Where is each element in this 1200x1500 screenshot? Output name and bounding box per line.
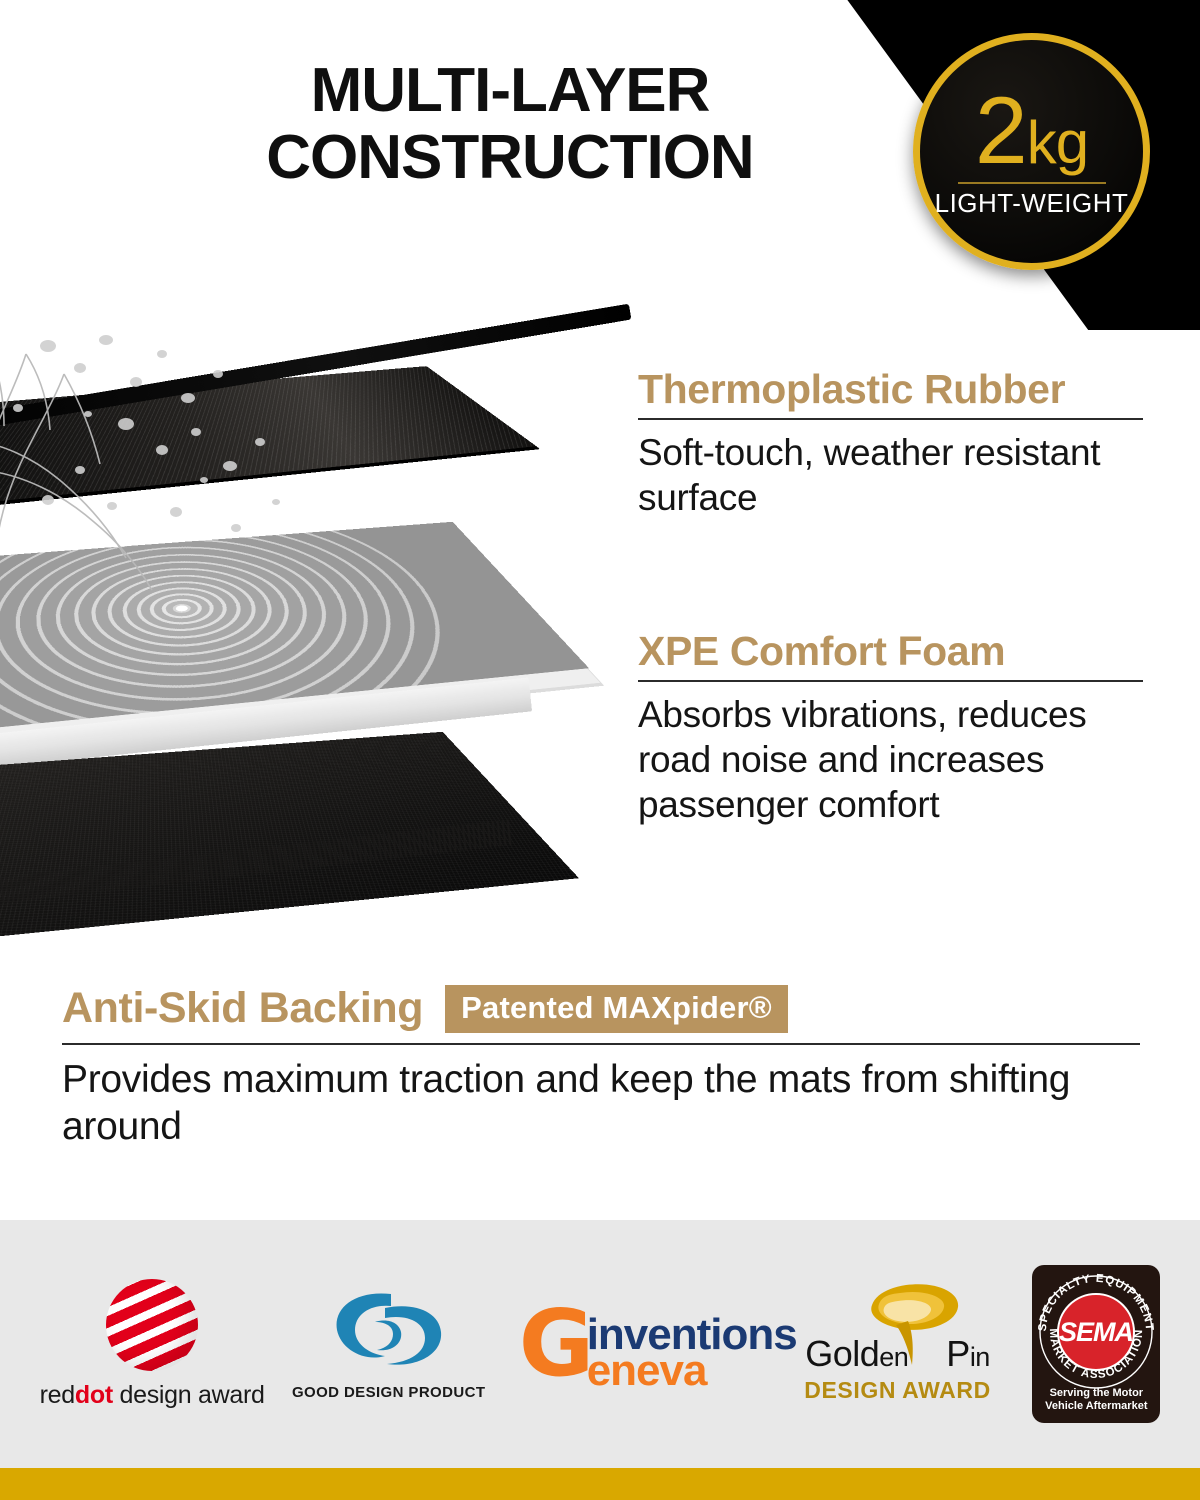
product-exploded-view — [0, 255, 670, 955]
feature-xpe-comfort-foam: XPE Comfort Foam Absorbs vibrations, red… — [638, 630, 1143, 827]
feature-divider — [638, 418, 1143, 420]
feature-heading: Thermoplastic Rubber — [638, 368, 1143, 411]
svg-text:SEMA: SEMA — [1059, 1317, 1133, 1347]
page-title: MULTI-LAYER CONSTRUCTION — [190, 58, 830, 192]
golden-pin-word-gold: Gold — [805, 1333, 879, 1374]
reddot-label: reddot design award — [40, 1381, 265, 1410]
feature-thermoplastic-rubber: Thermoplastic Rubber Soft-touch, weather… — [638, 368, 1143, 520]
golden-pin-caption: DESIGN AWARD — [790, 1377, 1005, 1404]
weight-badge: 2 kg LIGHT-WEIGHT — [913, 33, 1150, 270]
feature-anti-skid-backing: Anti-Skid Backing Patented MAXpider® Pro… — [62, 985, 1140, 1151]
good-design-caption: GOOD DESIGN PRODUCT — [292, 1384, 485, 1401]
badge-divider — [958, 182, 1106, 184]
weight-value: 2 — [975, 88, 1026, 175]
title-line-1: MULTI-LAYER — [190, 58, 830, 125]
golden-pin-word-p: P — [946, 1333, 970, 1374]
golden-pin-word-en: en — [879, 1342, 908, 1372]
golden-pin-word-in: in — [970, 1342, 990, 1372]
sema-seal-icon: SPECIALTY EQUIPMENT MARKET ASSOCIATION S… — [1035, 1271, 1157, 1393]
feature-body: Soft-touch, weather resistant surface — [638, 430, 1143, 520]
reddot-sphere-icon — [106, 1279, 198, 1371]
weight-value-group: 2 kg — [975, 88, 1088, 175]
sema-plaque: SPECIALTY EQUIPMENT MARKET ASSOCIATION S… — [1032, 1265, 1160, 1423]
reddot-label-pre: red — [40, 1381, 75, 1409]
bottom-accent-bar — [0, 1468, 1200, 1500]
award-inventions-geneva: G inventions eneva — [513, 1294, 763, 1394]
weight-unit: kg — [1027, 115, 1088, 170]
reddot-label-post: design award — [113, 1381, 265, 1409]
award-good-design-product: GOOD DESIGN PRODUCT — [292, 1288, 485, 1401]
anti-skid-heading-row: Anti-Skid Backing Patented MAXpider® — [62, 985, 1140, 1033]
sema-tagline: Serving the Motor Vehicle Aftermarket — [1032, 1387, 1160, 1415]
awards-strip: reddot design award GOOD DESIGN PRODUCT … — [0, 1220, 1200, 1468]
feature-heading: XPE Comfort Foam — [638, 630, 1143, 673]
patent-tag: Patented MAXpider® — [445, 985, 788, 1033]
feature-divider — [62, 1043, 1140, 1045]
geneva-initial: G — [519, 1298, 595, 1390]
award-sema: SPECIALTY EQUIPMENT MARKET ASSOCIATION S… — [1032, 1265, 1160, 1423]
feature-divider — [638, 680, 1143, 682]
geneva-word: eneva — [587, 1346, 707, 1396]
sema-tagline-line-2: Vehicle Aftermarket — [1032, 1400, 1160, 1414]
title-line-2: CONSTRUCTION — [190, 125, 830, 192]
feature-body: Provides maximum traction and keep the m… — [62, 1057, 1140, 1151]
sema-tagline-line-1: Serving the Motor — [1032, 1387, 1160, 1401]
badge-caption: LIGHT-WEIGHT — [935, 188, 1129, 219]
good-design-monogram-icon — [329, 1288, 449, 1372]
reddot-label-accent: dot — [75, 1381, 113, 1409]
feature-heading: Anti-Skid Backing — [62, 986, 423, 1031]
award-reddot-design-award: reddot design award — [40, 1279, 265, 1410]
layer-thermoplastic-rubber — [0, 366, 540, 512]
feature-body: Absorbs vibrations, reduces road noise a… — [638, 692, 1168, 827]
golden-pin-title: Golden Pin — [790, 1333, 1005, 1375]
award-golden-pin-design-award: Golden Pin DESIGN AWARD — [790, 1281, 1005, 1407]
infographic-root: MULTI-LAYER CONSTRUCTION 2 kg LIGHT-WEIG… — [0, 0, 1200, 1500]
